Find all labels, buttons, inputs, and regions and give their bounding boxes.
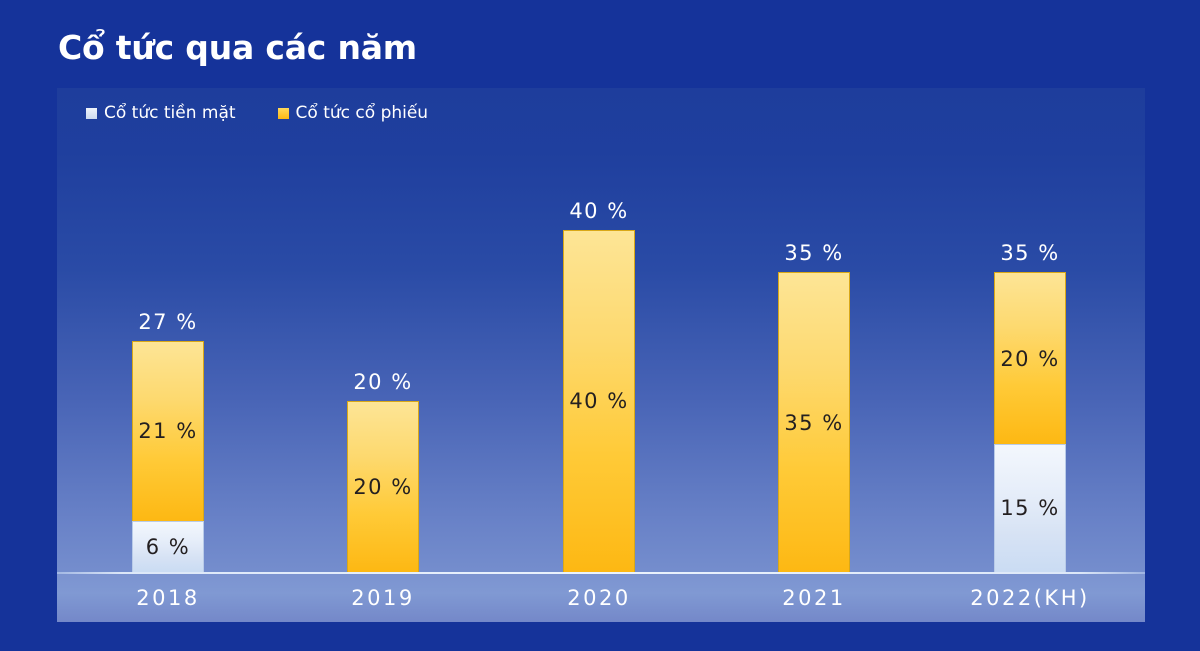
category-label-2022kh: 2022(KH) xyxy=(970,586,1089,610)
bar-stack[interactable]: 40 %40 % xyxy=(563,230,635,572)
bar-segment-cash[interactable]: 6 % xyxy=(132,521,204,572)
chart-legend: Cổ tức tiền mặt Cổ tức cổ phiếu xyxy=(86,103,428,123)
category-label-2021: 2021 xyxy=(782,586,845,610)
legend-swatch-cash-icon xyxy=(86,108,97,119)
bar-total-label: 35 % xyxy=(1000,241,1059,265)
bar-segment-cash[interactable]: 15 % xyxy=(994,444,1066,572)
category-axis-band: 20182019202020212022(KH) xyxy=(57,574,1145,622)
bar-total-label: 20 % xyxy=(353,370,412,394)
category-label-2020: 2020 xyxy=(567,586,630,610)
bar-segment-label: 20 % xyxy=(1000,347,1059,371)
legend-swatch-stock-icon xyxy=(278,108,289,119)
bar-segment-label: 6 % xyxy=(146,535,191,559)
bar-group[interactable]: 27 %21 %6 % xyxy=(132,341,204,572)
bar-total-label: 35 % xyxy=(784,241,843,265)
bar-stack[interactable]: 27 %21 %6 % xyxy=(132,341,204,572)
bar-group[interactable]: 35 %20 %15 % xyxy=(994,272,1066,572)
bar-stack[interactable]: 35 %20 %15 % xyxy=(994,272,1066,572)
bar-segment-label: 20 % xyxy=(353,475,412,499)
bar-group[interactable]: 35 %35 % xyxy=(778,272,850,572)
page-title: Cổ tức qua các năm xyxy=(58,28,417,67)
bar-segment-stock[interactable]: 35 % xyxy=(778,272,850,572)
legend-item-cash[interactable]: Cổ tức tiền mặt xyxy=(86,103,236,123)
legend-label-stock: Cổ tức cổ phiếu xyxy=(296,103,429,123)
bar-segment-stock[interactable]: 20 % xyxy=(347,401,419,572)
category-label-2018: 2018 xyxy=(136,586,199,610)
bar-segment-label: 40 % xyxy=(569,389,628,413)
bar-segment-stock[interactable]: 20 % xyxy=(994,272,1066,443)
bar-stack[interactable]: 20 %20 % xyxy=(347,401,419,572)
bar-segment-label: 35 % xyxy=(784,411,843,435)
bar-segment-stock[interactable]: 21 % xyxy=(132,341,204,521)
bar-total-label: 27 % xyxy=(138,310,197,334)
bar-group[interactable]: 40 %40 % xyxy=(563,230,635,572)
legend-item-stock[interactable]: Cổ tức cổ phiếu xyxy=(278,103,429,123)
bar-segment-label: 21 % xyxy=(138,419,197,443)
bar-total-label: 40 % xyxy=(569,199,628,223)
bar-segment-label: 15 % xyxy=(1000,496,1059,520)
bar-group[interactable]: 20 %20 % xyxy=(347,401,419,572)
category-label-2019: 2019 xyxy=(351,586,414,610)
legend-label-cash: Cổ tức tiền mặt xyxy=(104,103,236,123)
chart-plot-area: 27 %21 %6 %20 %20 %40 %40 %35 %35 %35 %2… xyxy=(57,88,1145,622)
bar-stack[interactable]: 35 %35 % xyxy=(778,272,850,572)
bar-segment-stock[interactable]: 40 % xyxy=(563,230,635,572)
bars-layer: 27 %21 %6 %20 %20 %40 %40 %35 %35 %35 %2… xyxy=(57,88,1145,622)
